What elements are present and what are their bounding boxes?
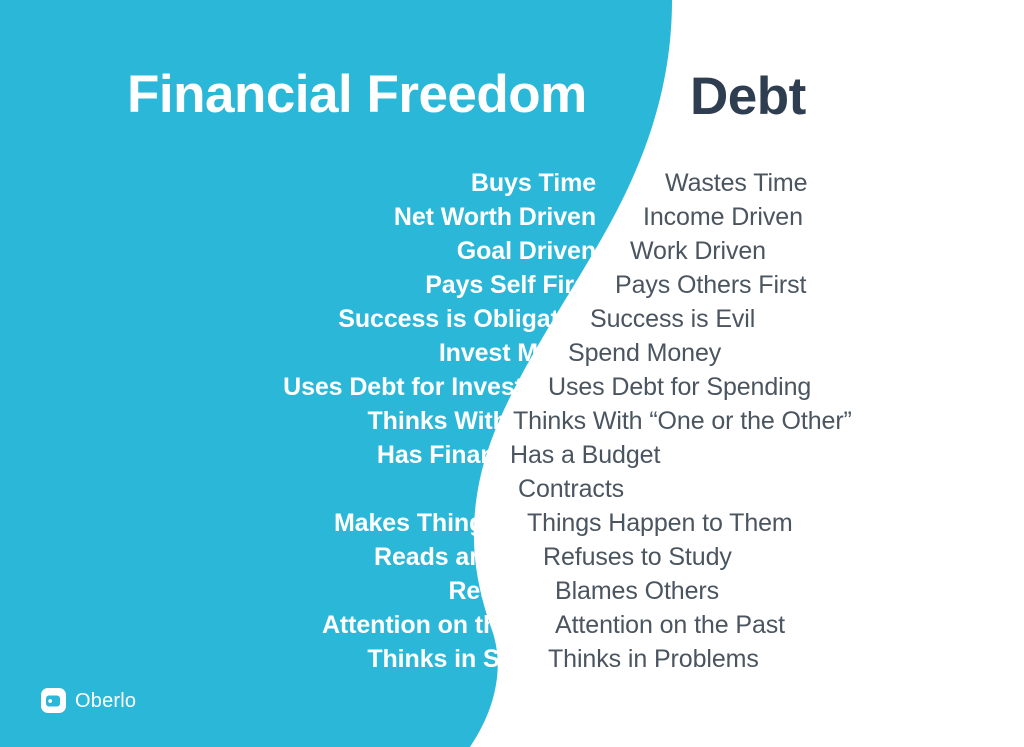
debt-item: Blames Others — [505, 574, 985, 608]
debt-item: Thinks With “One or the Other” — [505, 404, 985, 438]
heading-financial-freedom: Financial Freedom — [127, 68, 587, 121]
debt-item: Spend Money — [505, 336, 985, 370]
debt-item: Thinks in Problems — [505, 642, 985, 676]
debt-item: Work Driven — [505, 234, 985, 268]
debt-item: Contracts — [505, 472, 985, 506]
oberlo-wordmark: Oberlo — [75, 691, 136, 711]
heading-debt: Debt — [690, 70, 806, 123]
oberlo-logo: Oberlo — [41, 688, 136, 713]
debt-item: Income Driven — [505, 200, 985, 234]
debt-item: Things Happen to Them — [505, 506, 985, 540]
debt-item: Has a Budget — [505, 438, 985, 472]
infographic-canvas: Financial Freedom Debt Buys TimeNet Wort… — [0, 0, 1024, 747]
debt-item: Wastes Time — [505, 166, 985, 200]
debt-item: Pays Others First — [505, 268, 985, 302]
debt-list: Wastes TimeIncome DrivenWork DrivenPays … — [505, 166, 985, 676]
debt-item: Refuses to Study — [505, 540, 985, 574]
debt-item: Uses Debt for Spending — [505, 370, 985, 404]
debt-item: Attention on the Past — [505, 608, 985, 642]
oberlo-tag-icon — [41, 688, 66, 713]
debt-item: Success is Evil — [505, 302, 985, 336]
